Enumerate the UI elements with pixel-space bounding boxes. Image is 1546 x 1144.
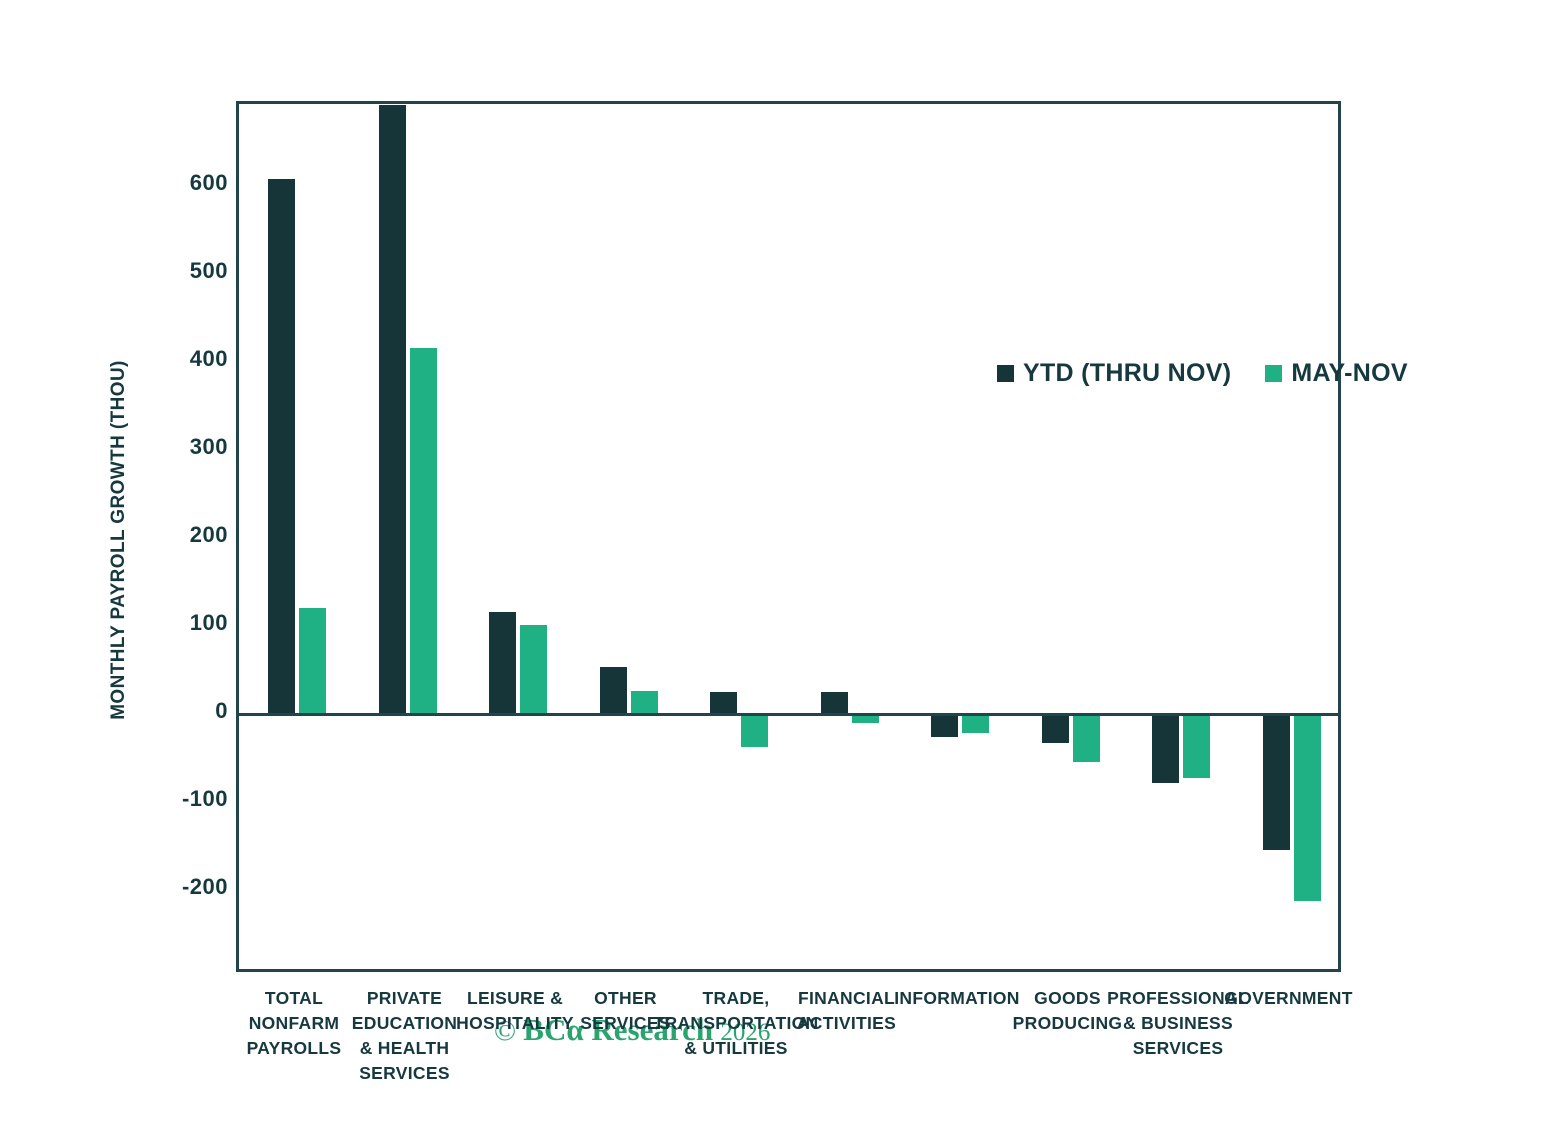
x-category-label-line: ACTIVITIES [785,1011,909,1036]
y-tick-label: 600 [138,170,228,196]
bar-maynov [1183,714,1210,778]
y-tick-label: -200 [138,874,228,900]
plot-area: YTD (THRU NOV)MAY-NOV © BCα Research 202… [236,101,1341,972]
bar-ytd [600,667,627,714]
bar-maynov [299,608,326,714]
x-category-label-line: SERVICES [330,1061,480,1086]
x-category-label: LEISURE &HOSPITALITY [450,986,580,1036]
chart-legend: YTD (THRU NOV)MAY-NOV [997,359,1408,388]
legend-swatch-icon [1265,365,1282,382]
bar-maynov [1294,714,1321,901]
bar-maynov [520,625,547,714]
y-tick-label: 500 [138,258,228,284]
y-axis-tick-labels: 6005004003002001000-100-200 [110,0,228,1144]
bar-ytd [489,612,516,714]
x-category-label-line: SERVICES [1103,1036,1253,1061]
y-tick-label: 300 [138,434,228,460]
bar-maynov [962,714,989,733]
bar-ytd [268,179,295,714]
x-axis-category-labels: TOTALNONFARMPAYROLLSPRIVATEEDUCATION& HE… [0,986,1546,1116]
bar-ytd [1042,714,1069,743]
zero-baseline [239,713,1338,716]
x-category-label-line: HOSPITALITY [450,1011,580,1036]
bar-ytd [710,692,737,714]
x-category-label: GOVERNMENT [1219,986,1359,1011]
bar-ytd [931,714,958,737]
y-tick-label: -100 [138,786,228,812]
x-category-label-line: LEISURE & [450,986,580,1011]
legend-item-maynov[interactable]: MAY-NOV [1265,359,1407,388]
x-category-label-line: & BUSINESS [1103,1011,1253,1036]
bar-ytd [1152,714,1179,783]
bar-ytd [1263,714,1290,850]
x-category-label-line: & HEALTH [330,1036,480,1061]
y-tick-label: 0 [138,698,228,724]
x-category-label-line: & UTILITIES [652,1036,820,1061]
bar-maynov [631,691,658,714]
bar-maynov [1073,714,1100,762]
y-tick-label: 200 [138,522,228,548]
bar-ytd [379,105,406,714]
legend-label: YTD (THRU NOV) [1023,359,1231,388]
payroll-growth-bar-chart: MONTHLY PAYROLL GROWTH (THOU) 6005004003… [0,0,1546,1144]
y-tick-label: 100 [138,610,228,636]
bar-maynov [741,714,768,747]
bars-layer [239,104,1338,969]
legend-item-ytd[interactable]: YTD (THRU NOV) [997,359,1231,388]
legend-label: MAY-NOV [1291,359,1407,388]
y-tick-label: 400 [138,346,228,372]
x-category-label-line: GOVERNMENT [1219,986,1359,1011]
legend-swatch-icon [997,365,1014,382]
bar-ytd [821,692,848,714]
bar-maynov [410,348,437,714]
